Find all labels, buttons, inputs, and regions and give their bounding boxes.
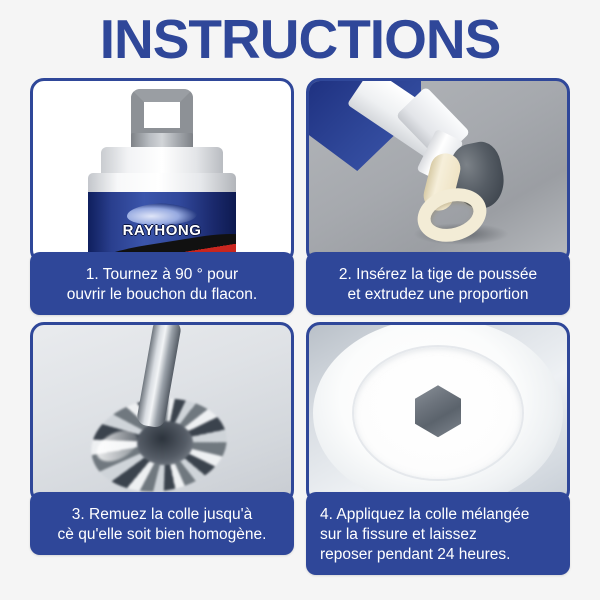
step-card-4: 4. Appliquez la colle mélangée sur la fi…	[306, 322, 570, 575]
step-1-photo: RAYHONG	[30, 78, 294, 264]
step-3-caption: 3. Remuez la colle jusqu'à cè qu'elle so…	[30, 492, 294, 555]
page-title: INSTRUCTIONS	[0, 8, 600, 70]
step-card-1: RAYHONG 1. Tournez à 90 ° pour ouvrir le…	[30, 78, 294, 315]
step-card-3: 3. Remuez la colle jusqu'à cè qu'elle so…	[30, 322, 294, 555]
glue-swirl-core	[137, 421, 193, 465]
step-2-caption: 2. Insérez la tige de poussée et extrude…	[306, 252, 570, 315]
step-2-photo	[306, 78, 570, 264]
rayhong-bottle-illustration: RAYHONG	[87, 89, 237, 264]
step-3-photo	[30, 322, 294, 504]
step-1-caption: 1. Tournez à 90 ° pour ouvrir le bouchon…	[30, 252, 294, 315]
step-4-photo	[306, 322, 570, 504]
instruction-steps-grid: RAYHONG 1. Tournez à 90 ° pour ouvrir le…	[30, 78, 570, 588]
step-card-2: 2. Insérez la tige de poussée et extrude…	[306, 78, 570, 315]
step-4-caption: 4. Appliquez la colle mélangée sur la fi…	[306, 492, 570, 575]
